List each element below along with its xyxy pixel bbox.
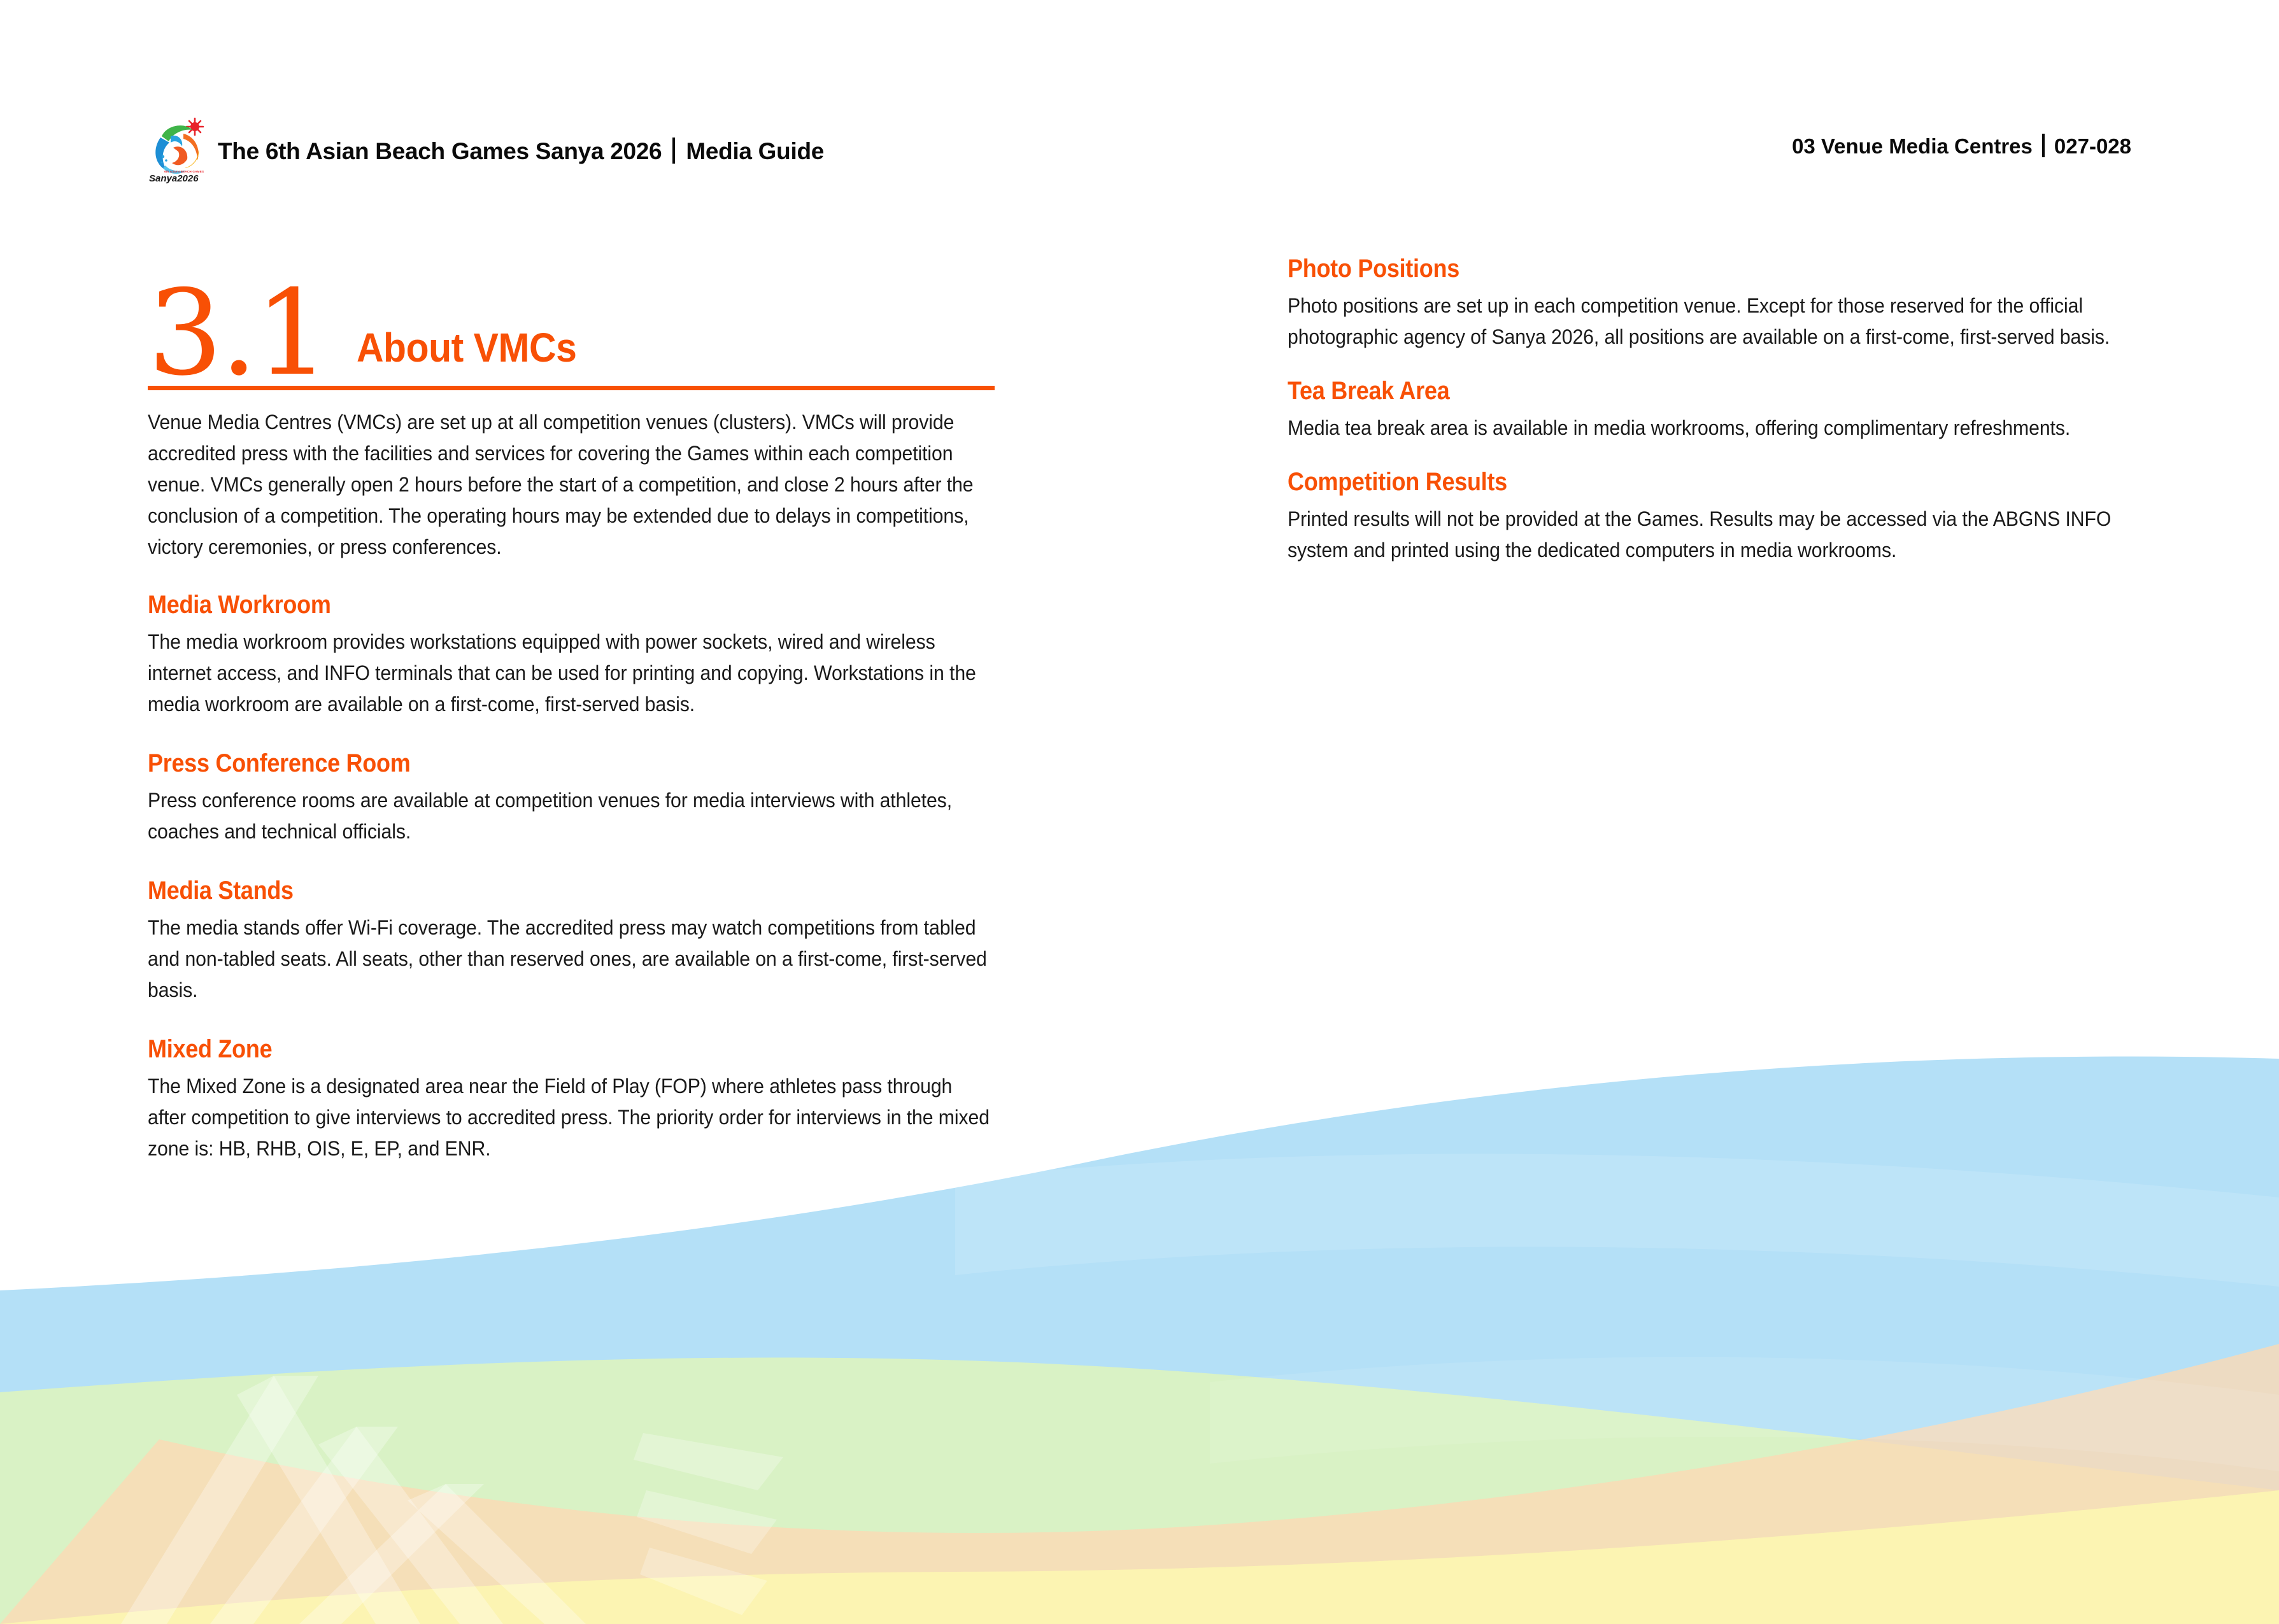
text-press-conference-room: Press conference rooms are available at … [148,785,995,847]
section-heading: About VMCs [357,327,576,382]
text-photo-positions: Photo positions are set up in each compe… [1288,290,2134,353]
text-competition-results: Printed results will not be provided at … [1288,504,2134,566]
heading-press-conference-room: Press Conference Room [148,751,910,776]
heading-competition-results: Competition Results [1288,469,2050,495]
header-chapter: 03 Venue Media Centres [1792,134,2033,158]
page-content: 6th ASIAN BEACH GAMES Sanya2026 The 6th … [0,0,2279,1624]
text-tea-break-area: Media tea break area is available in med… [1288,413,2134,444]
header-title-group: The 6th Asian Beach Games Sanya 2026Medi… [218,138,824,164]
block-press-conference-room: Press Conference Room Press conference r… [148,751,995,847]
heading-photo-positions: Photo Positions [1288,256,2050,281]
text-mixed-zone: The Mixed Zone is a designated area near… [148,1071,995,1164]
logo-swoosh-blue [155,138,169,171]
sanya-2026-logo-icon: 6th ASIAN BEACH GAMES Sanya2026 [148,117,209,183]
block-tea-break-area: Tea Break Area Media tea break area is a… [1288,378,2134,444]
block-media-workroom: Media Workroom The media workroom provid… [148,592,995,720]
spacer [148,563,995,592]
logo-wordmark: Sanya2026 [149,173,199,183]
block-competition-results: Competition Results Printed results will… [1288,469,2134,566]
header-title-main: The 6th Asian Beach Games Sanya 2026 [218,138,662,164]
heading-mixed-zone: Mixed Zone [148,1036,910,1062]
logo-flame-orange [172,146,187,165]
header-right-divider [2042,134,2045,157]
header-divider [672,138,675,164]
header-right-group: 03 Venue Media Centres027-028 [1792,134,2131,157]
text-media-workroom: The media workroom provides workstations… [148,626,995,720]
text-media-stands: The media stands offer Wi-Fi coverage. T… [148,912,995,1006]
section-number: 3.1 [148,285,327,382]
heading-tea-break-area: Tea Break Area [1288,378,2050,404]
block-mixed-zone: Mixed Zone The Mixed Zone is a designate… [148,1036,995,1164]
heading-media-workroom: Media Workroom [148,592,910,618]
page-header: 6th ASIAN BEACH GAMES Sanya2026 The 6th … [148,125,2131,176]
logo-figure-blue [171,136,182,146]
header-left-group: 6th ASIAN BEACH GAMES Sanya2026 The 6th … [148,125,824,176]
section-intro-text: Venue Media Centres (VMCs) are set up at… [148,407,995,563]
right-column: Photo Positions Photo positions are set … [1288,256,2134,566]
heading-media-stands: Media Stands [148,878,910,903]
left-column: 3.1 About VMCs Venue Media Centres (VMCs… [148,255,995,1164]
block-media-stands: Media Stands The media stands offer Wi-F… [148,878,995,1006]
section-title-row: 3.1 About VMCs [148,255,995,382]
starburst-icon [187,118,203,135]
block-photo-positions: Photo Positions Photo positions are set … [1288,256,2134,353]
header-page-range: 027-028 [2054,134,2131,158]
header-title-sub: Media Guide [686,138,824,164]
